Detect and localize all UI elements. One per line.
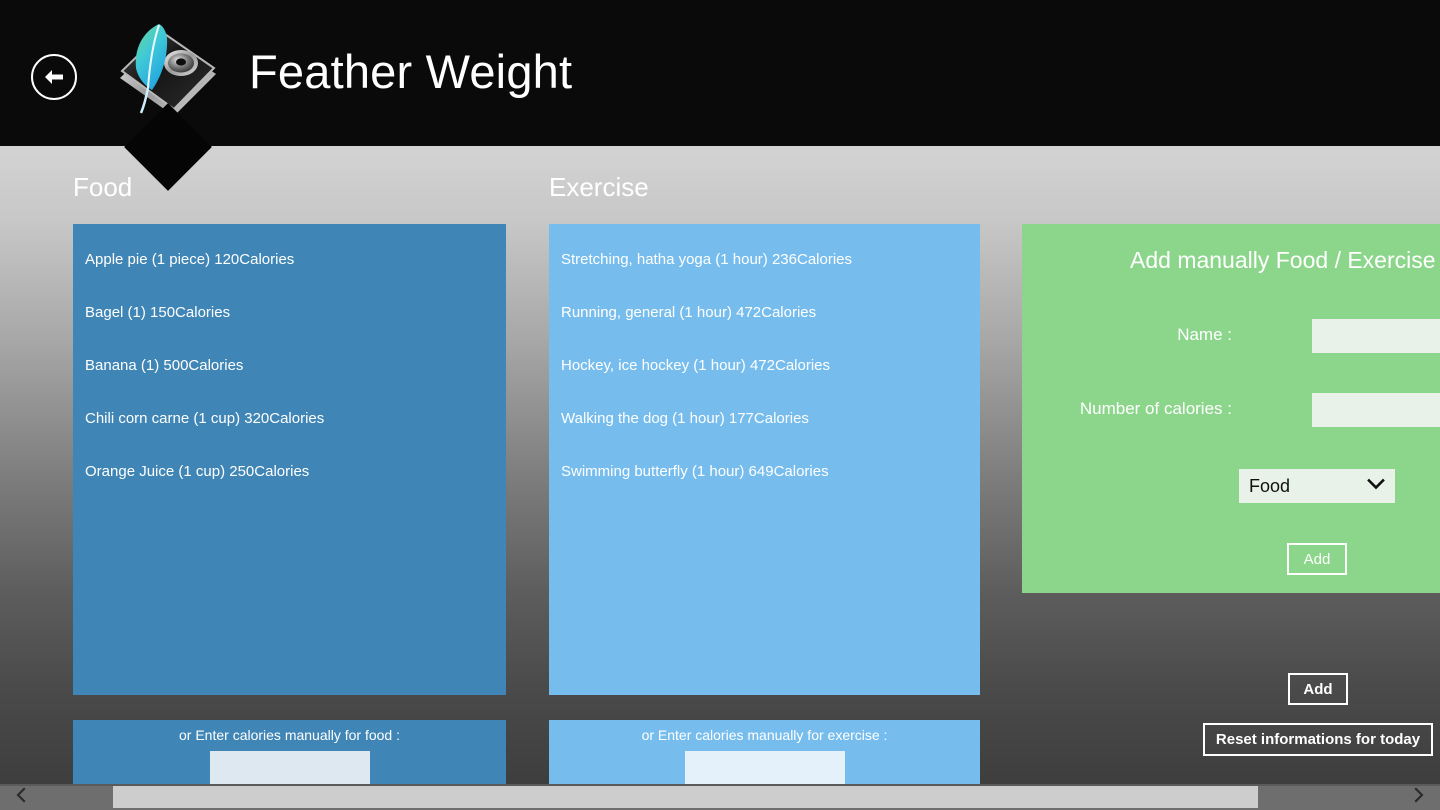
list-item[interactable]: Swimming butterfly (1 hour) 649Calories <box>549 454 980 507</box>
chevron-down-icon <box>1367 477 1385 495</box>
entry-type-select[interactable]: Food <box>1239 469 1395 503</box>
list-item[interactable]: Stretching, hatha yoga (1 hour) 236Calor… <box>549 242 980 295</box>
food-column-heading: Food <box>73 172 132 203</box>
back-button[interactable] <box>31 54 77 100</box>
main-content: Food Exercise Apple pie (1 piece) 120Cal… <box>0 146 1440 784</box>
list-item[interactable]: Bagel (1) 150Calories <box>73 295 506 348</box>
app-window: Feather Weight Food Exercise Apple pie (… <box>0 0 1440 810</box>
list-item[interactable]: Chili corn carne (1 cup) 320Calories <box>73 401 506 454</box>
add-manually-title: Add manually Food / Exercise in t <box>1130 247 1440 274</box>
calories-field-label: Number of calories : <box>1022 399 1232 419</box>
scroll-left-button[interactable] <box>0 784 42 810</box>
manual-food-label: or Enter calories manually for food : <box>73 720 506 743</box>
scroll-right-button[interactable] <box>1398 784 1440 810</box>
add-manually-submit-button[interactable]: Add <box>1287 543 1347 575</box>
scrollbar-thumb[interactable] <box>113 786 1258 808</box>
manual-food-panel: or Enter calories manually for food : <box>73 720 506 784</box>
manual-exercise-panel: or Enter calories manually for exercise … <box>549 720 980 784</box>
name-field-label: Name : <box>1062 325 1232 345</box>
list-item[interactable]: Running, general (1 hour) 472Calories <box>549 295 980 348</box>
food-list[interactable]: Apple pie (1 piece) 120Calories Bagel (1… <box>73 224 506 695</box>
manual-exercise-label: or Enter calories manually for exercise … <box>549 720 980 743</box>
list-item[interactable]: Walking the dog (1 hour) 177Calories <box>549 401 980 454</box>
name-input[interactable] <box>1312 319 1440 353</box>
app-title: Feather Weight <box>249 44 572 99</box>
manual-food-calories-input[interactable] <box>210 751 370 784</box>
back-arrow-icon <box>42 67 66 87</box>
entry-type-value: Food <box>1249 476 1367 497</box>
list-item[interactable]: Hockey, ice hockey (1 hour) 472Calories <box>549 348 980 401</box>
add-manually-panel: Add manually Food / Exercise in t Name :… <box>1022 224 1440 593</box>
manual-exercise-calories-input[interactable] <box>685 751 845 784</box>
chevron-right-icon <box>1413 787 1425 808</box>
reset-today-button[interactable]: Reset informations for today <box>1203 723 1433 756</box>
exercise-list[interactable]: Stretching, hatha yoga (1 hour) 236Calor… <box>549 224 980 695</box>
chevron-left-icon <box>15 787 27 808</box>
exercise-column-heading: Exercise <box>549 172 649 203</box>
horizontal-scrollbar[interactable] <box>0 784 1440 810</box>
add-button[interactable]: Add <box>1288 673 1348 705</box>
app-header: Feather Weight <box>0 0 1440 146</box>
list-item[interactable]: Orange Juice (1 cup) 250Calories <box>73 454 506 507</box>
list-item[interactable]: Banana (1) 500Calories <box>73 348 506 401</box>
calories-input[interactable] <box>1312 393 1440 427</box>
list-item[interactable]: Apple pie (1 piece) 120Calories <box>73 242 506 295</box>
